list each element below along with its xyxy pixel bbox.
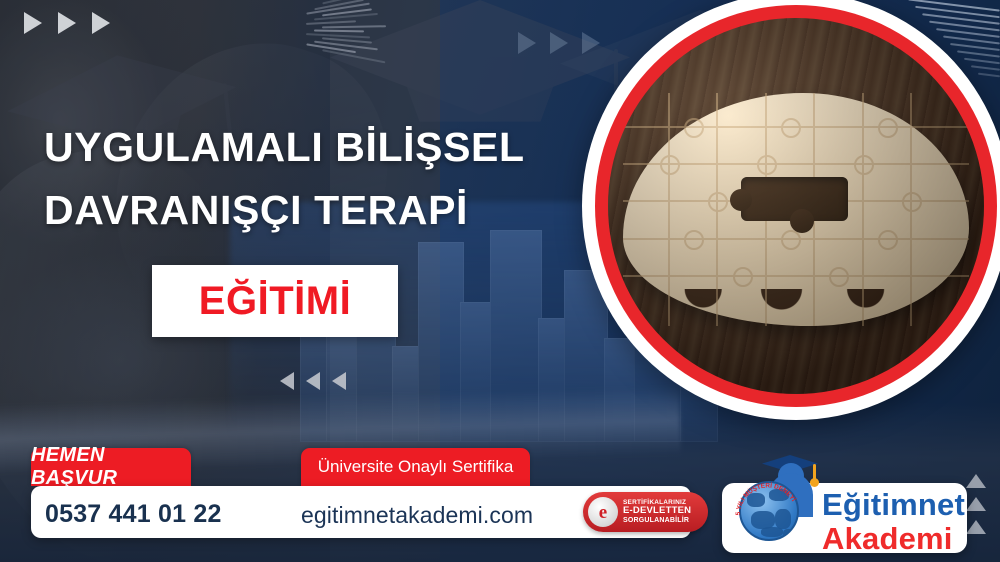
certificate-label: Üniversite Onaylı Sertifika: [318, 457, 514, 477]
brand-emblem-icon: 5 YILI MÜŞTERİ DENEYİMİ: [735, 455, 821, 543]
triangle-group-top-left: [24, 12, 110, 34]
triangle-left-icon: [332, 372, 346, 390]
triangle-left-icon: [280, 372, 294, 390]
highlight-label: EĞİTİMİ: [199, 279, 351, 324]
promo-banner: UYGULAMALI BİLİŞSEL DAVRANIŞÇI TERAPİ EĞ…: [0, 0, 1000, 562]
brain-puzzle-photo: [608, 18, 984, 394]
edevlet-line-2: E-DEVLETTEN: [623, 506, 691, 517]
edevlet-line-3: SORGULANABİLİR: [623, 517, 691, 525]
svg-text:5 YILI MÜŞTERİ DENEYİMİ: 5 YILI MÜŞTERİ DENEYİMİ: [735, 477, 798, 516]
website-link[interactable]: egitimnetakademi.com: [301, 502, 533, 529]
line-fan-decoration: [282, 0, 402, 62]
triangle-up-icon: [966, 497, 986, 511]
hero-image-circle: [582, 0, 1000, 420]
triangle-right-icon: [550, 32, 568, 54]
edevlet-logo-icon: e: [588, 497, 618, 527]
puzzle-grid-lines: [623, 93, 969, 326]
brand-name-line-2: Akademi: [822, 523, 965, 554]
brand-seal-text: 5 YILI MÜŞTERİ DENEYİMİ: [735, 477, 801, 543]
triangle-up-icon: [966, 520, 986, 534]
missing-puzzle-piece-hole: [741, 177, 848, 221]
triangle-right-icon: [518, 32, 536, 54]
apply-now-label: HEMEN BAŞVUR: [31, 444, 191, 490]
apply-now-tab[interactable]: HEMEN BAŞVUR: [31, 448, 191, 486]
triangle-group-left: [280, 372, 346, 390]
edevlet-verification-badge: e SERTİFİKALARINIZ E-DEVLETTEN SORGULANA…: [583, 492, 708, 532]
brand-name: Eğitimnet Akademi: [822, 489, 965, 554]
page-title: UYGULAMALI BİLİŞSEL DAVRANIŞÇI TERAPİ: [44, 118, 564, 241]
brain-puzzle-shape: [623, 93, 969, 326]
highlight-box: EĞİTİMİ: [152, 265, 398, 337]
triangle-group-right: [966, 474, 986, 534]
triangle-right-icon: [24, 12, 42, 34]
triangle-right-icon: [58, 12, 76, 34]
headline-line-1: UYGULAMALI BİLİŞSEL: [44, 118, 564, 177]
headline-line-2: DAVRANIŞÇI TERAPİ: [44, 181, 564, 240]
phone-number[interactable]: 0537 441 01 22: [45, 500, 222, 529]
edevlet-logo-glyph: e: [599, 503, 607, 522]
certificate-tab[interactable]: Üniversite Onaylı Sertifika: [301, 448, 530, 486]
edevlet-badge-text: SERTİFİKALARINIZ E-DEVLETTEN SORGULANABİ…: [623, 499, 691, 525]
triangle-right-icon: [92, 12, 110, 34]
brand-name-line-1: Eğitimnet: [822, 489, 965, 520]
triangle-left-icon: [306, 372, 320, 390]
triangle-up-icon: [966, 474, 986, 488]
